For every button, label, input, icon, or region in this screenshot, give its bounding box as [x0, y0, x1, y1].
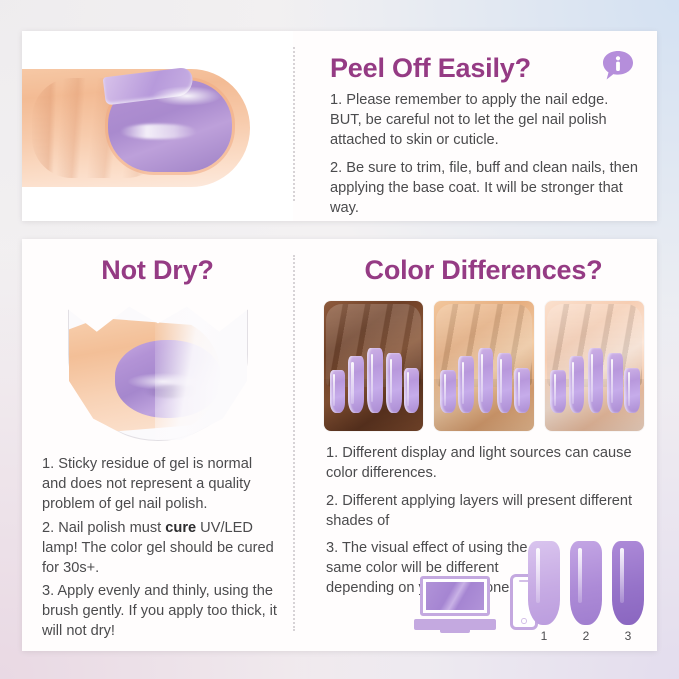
peel-off-title: Peel Off Easily?	[330, 53, 531, 84]
peel-off-panel: Peel Off Easily? 1. Please remember to a…	[312, 31, 657, 221]
shade-swatch-labels: 1 2 3	[526, 629, 646, 647]
color-differences-title: Color Differences?	[310, 255, 657, 286]
peeling-gel-nail-photo	[22, 31, 293, 221]
color-differences-paragraph-2: 2. Different applying layers will presen…	[326, 492, 646, 532]
devices-illustration	[414, 572, 538, 634]
laptop-lid	[420, 576, 490, 616]
not-dry-panel: Not Dry? 1. Sticky residue of gel is nor…	[22, 239, 293, 651]
hand-deep-skin-tone	[324, 301, 423, 431]
laptop-keyboard	[414, 619, 496, 630]
not-dry-paragraph-3: 3. Apply evenly and thinly, using the br…	[42, 582, 280, 642]
not-dry-title: Not Dry?	[22, 255, 293, 286]
infographic-page: Peel Off Easily? 1. Please remember to a…	[0, 0, 679, 679]
laptop-icon	[414, 576, 496, 630]
nail-set	[438, 330, 529, 413]
tulip-frame	[68, 301, 248, 441]
color-differences-paragraph-1: 1. Different display and light sources c…	[326, 444, 656, 484]
card-bottom-divider	[293, 255, 295, 631]
shade-label-2: 2	[570, 629, 602, 643]
hand-medium-skin-tone	[434, 301, 533, 431]
nail-set	[549, 330, 640, 413]
color-differences-panel: Color Differences?	[310, 239, 657, 651]
shade-swatch-3	[612, 541, 644, 625]
peel-off-paragraph-1: 1. Please remember to apply the nail edg…	[330, 91, 642, 151]
nail-set	[328, 330, 419, 413]
peeling-nail-polish	[108, 80, 232, 172]
hand-light-skin-tone	[545, 301, 644, 431]
not-dry-p2-emphasis: cure	[165, 520, 196, 536]
card-top-divider	[293, 47, 295, 201]
shade-swatch-2	[570, 541, 602, 625]
shade-label-3: 3	[612, 629, 644, 643]
shade-label-1: 1	[528, 629, 560, 643]
shade-swatch-1	[528, 541, 560, 625]
shade-swatches: 1 2 3	[526, 541, 646, 645]
not-dry-p3-text: 3. Apply evenly and thinly, using the br…	[42, 583, 277, 639]
peel-off-paragraph-2: 2. Be sure to trim, file, buff and clean…	[330, 159, 642, 219]
not-dry-paragraph-1: 1. Sticky residue of gel is normal and d…	[42, 455, 280, 515]
laptop-screen	[426, 582, 484, 610]
not-dry-p1-text: 1. Sticky residue of gel is normal and d…	[42, 456, 252, 512]
info-speech-bubble-icon	[601, 49, 635, 83]
peel-off-card: Peel Off Easily? 1. Please remember to a…	[22, 31, 657, 221]
faq-card: Not Dry? 1. Sticky residue of gel is nor…	[22, 239, 657, 651]
skin-tone-comparison-images	[324, 301, 644, 431]
not-dry-paragraph-2: 2. Nail polish must cure UV/LED lamp! Th…	[42, 519, 280, 579]
fade-overlay	[155, 302, 247, 440]
tulip-shaped-nail-gel-photo	[68, 301, 248, 441]
not-dry-p2-before: 2. Nail polish must	[42, 520, 165, 536]
